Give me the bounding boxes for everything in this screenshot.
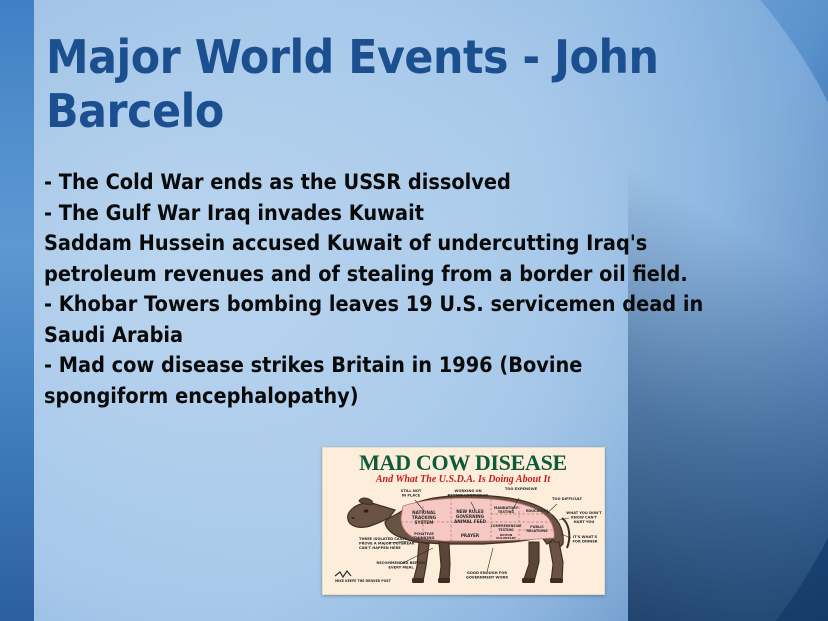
svg-text:RELATIONS: RELATIONS	[526, 529, 548, 533]
body-line-5: - Mad cow disease strikes Britain in 199…	[44, 351, 710, 412]
cut-prayer: PRAYER	[461, 533, 480, 538]
callout-whats-for-dinner: IT'S WHAT'S	[573, 535, 598, 539]
slide-canvas: Major World Events - John Barcelo - The …	[0, 0, 828, 621]
callout-three-isolated-cases: THREE ISOLATED CASES	[359, 537, 408, 541]
svg-text:EVERY MEAL: EVERY MEAL	[388, 566, 414, 570]
svg-text:GOVERNMENT WORK: GOVERNMENT WORK	[466, 576, 508, 580]
callout-still-not-in-place: STILL NOT	[401, 489, 422, 493]
svg-text:TESTING: TESTING	[498, 510, 514, 514]
callout-too-difficult: TOO DIFFICULT	[552, 497, 583, 501]
svg-text:THINKING: THINKING	[413, 535, 434, 540]
callout-recommended-before-every-meal: RECOMMENDED BEFORE	[376, 561, 426, 565]
body-line-3: Saddam Hussein accused Kuwait of undercu…	[44, 229, 710, 290]
svg-text:PROVE A MAJOR OUTBREAK: PROVE A MAJOR OUTBREAK	[359, 542, 415, 546]
callout-good-enough-for-government-work: GOOD ENOUGH FOR	[467, 571, 507, 575]
callout-too-expensive: TOO EXPENSIVE	[505, 487, 538, 491]
svg-text:CAN'T HAPPEN HERE: CAN'T HAPPEN HERE	[359, 546, 401, 550]
cartoon-subtitle: And What The U.S.D.A. Is Doing About It	[375, 474, 551, 485]
page-title: Major World Events - John Barcelo	[46, 30, 660, 139]
body-line-2: - The Gulf War Iraq invades Kuwait	[44, 199, 710, 230]
svg-text:ANIMAL FEED: ANIMAL FEED	[454, 519, 486, 524]
svg-text:KNOW CAN'T: KNOW CAN'T	[571, 516, 598, 520]
body-text-block: - The Cold War ends as the USSR dissolve…	[44, 168, 710, 412]
mad-cow-cartoon-image[interactable]: MAD COW DISEASE And What The U.S.D.A. Is…	[322, 447, 605, 595]
cut-education: EDUCATION	[526, 509, 548, 513]
body-line-1: - The Cold War ends as the USSR dissolve…	[44, 168, 710, 199]
cartoonist-signature: MIKE KEEFE THE DENVER POST	[335, 579, 392, 583]
svg-text:VOLUNTARY: VOLUNTARY	[496, 536, 517, 540]
cartoon-title: MAD COW DISEASE	[359, 450, 567, 475]
callout-what-you-dont-know: WHAT YOU DON'T	[566, 511, 602, 515]
background-left-band	[0, 0, 34, 621]
svg-text:FOR DINNER: FOR DINNER	[572, 540, 597, 544]
callout-better-loopholes: WORKING ON	[454, 489, 481, 493]
svg-text:HURT YOU: HURT YOU	[574, 520, 595, 524]
svg-text:TESTING: TESTING	[498, 528, 514, 532]
svg-text:SYSTEM: SYSTEM	[415, 520, 434, 525]
svg-text:IN PLACE: IN PLACE	[402, 494, 421, 498]
svg-text:BETTER LOOPHOLES: BETTER LOOPHOLES	[448, 494, 489, 498]
body-line-4: - Khobar Towers bombing leaves 19 U.S. s…	[44, 290, 710, 351]
